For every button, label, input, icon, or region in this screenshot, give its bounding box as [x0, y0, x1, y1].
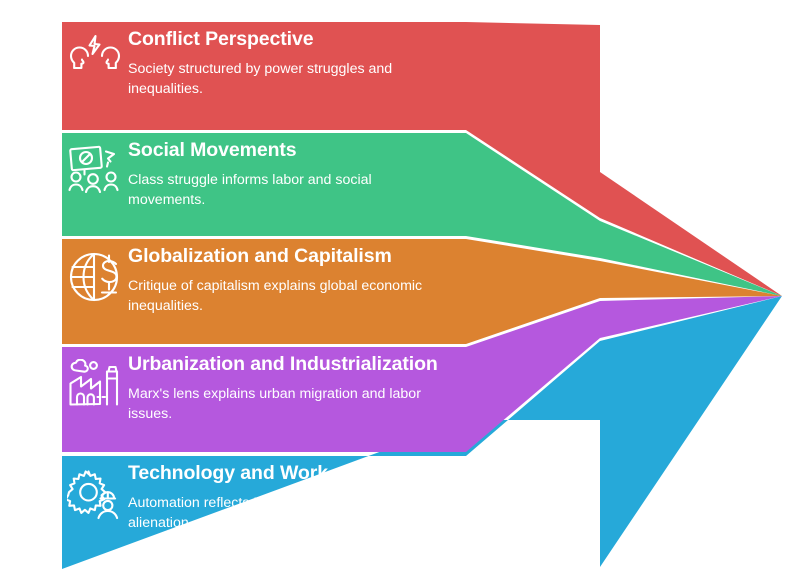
row-description: Automation reflects Marx's concern about… [128, 494, 428, 533]
infographic-canvas: Conflict Perspective Society structured … [0, 0, 795, 579]
row-text-block: Urbanization and Industrialization Marx'… [128, 347, 438, 425]
protest-sign-crowd-icon [62, 133, 128, 193]
row-description: Class struggle informs labor and social … [128, 171, 428, 210]
row-urbanization-and-industrialization[interactable]: Urbanization and Industrialization Marx'… [62, 347, 438, 455]
row-title: Social Movements [128, 139, 428, 162]
row-description: Society structured by power struggles an… [128, 60, 428, 99]
row-title: Technology and Work [128, 462, 428, 485]
row-title: Globalization and Capitalism [128, 245, 428, 268]
factory-smokestack-icon [62, 347, 128, 409]
globe-dollar-icon [62, 239, 128, 303]
row-description: Marx's lens explains urban migration and… [128, 385, 428, 424]
row-description: Critique of capitalism explains global e… [128, 277, 428, 316]
row-globalization-and-capitalism[interactable]: Globalization and Capitalism Critique of… [62, 239, 428, 346]
conflict-heads-lightning-icon [62, 22, 128, 82]
row-conflict-perspective[interactable]: Conflict Perspective Society structured … [62, 22, 428, 132]
row-text-block: Technology and Work Automation reflects … [128, 456, 428, 534]
row-technology-and-work[interactable]: Technology and Work Automation reflects … [62, 456, 428, 569]
row-social-movements[interactable]: Social Movements Class struggle informs … [62, 133, 428, 238]
row-text-block: Conflict Perspective Society structured … [128, 22, 428, 100]
row-text-block: Social Movements Class struggle informs … [128, 133, 428, 211]
gear-worker-icon [62, 456, 128, 520]
row-title: Urbanization and Industrialization [128, 353, 438, 376]
row-title: Conflict Perspective [128, 28, 428, 51]
row-text-block: Globalization and Capitalism Critique of… [128, 239, 428, 317]
